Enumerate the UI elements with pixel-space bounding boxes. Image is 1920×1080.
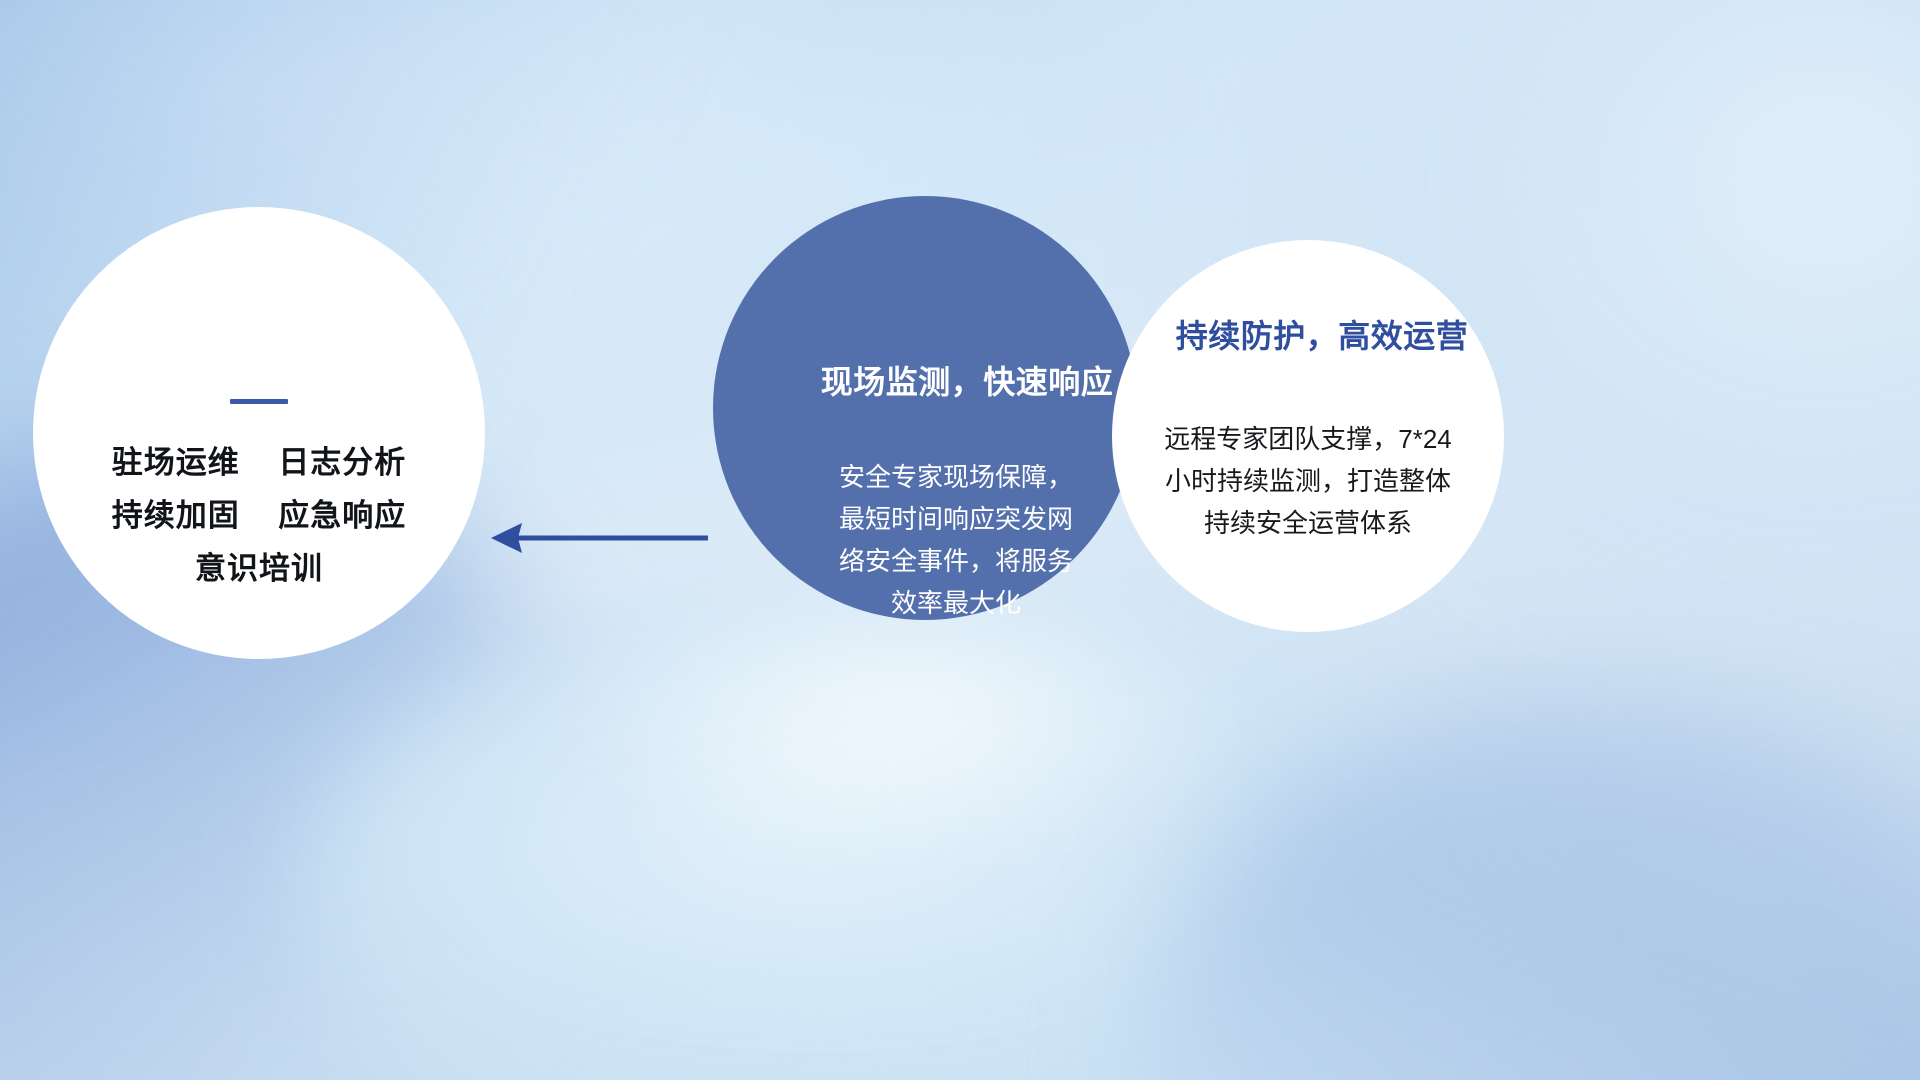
right-card-body-line: 小时持续监测，打造整体 <box>1122 460 1494 502</box>
left-arrow-icon <box>488 516 708 560</box>
middle-card-body-line: 效率最大化 <box>806 582 1106 624</box>
left-card: 驻场运维 日志分析 持续加固 应急响应 意识培训 <box>33 207 485 659</box>
right-card-body: 远程专家团队支撑，7*24 小时持续监测，打造整体 持续安全运营体系 <box>1122 418 1494 544</box>
left-card-line: 持续加固 应急响应 <box>112 500 406 531</box>
diagram-stage: 驻场运维 日志分析 持续加固 应急响应 意识培训 现场监测，快速响应 安全专家现… <box>0 0 1920 1080</box>
right-card: 持续防护，高效运营 远程专家团队支撑，7*24 小时持续监测，打造整体 持续安全… <box>1112 240 1504 632</box>
middle-card-body-line: 络安全事件，将服务 <box>806 540 1106 582</box>
left-card-line: 意识培训 <box>195 553 323 584</box>
middle-card-body-line: 最短时间响应突发网 <box>806 498 1106 540</box>
middle-card: 现场监测，快速响应 安全专家现场保障， 最短时间响应突发网 络安全事件，将服务 … <box>713 196 1137 620</box>
middle-card-body-line: 安全专家现场保障， <box>806 456 1106 498</box>
flow-arrow <box>488 516 708 565</box>
right-card-title: 持续防护，高效运营 <box>1176 320 1469 352</box>
middle-card-body: 安全专家现场保障， 最短时间响应突发网 络安全事件，将服务 效率最大化 <box>806 456 1106 624</box>
right-card-body-line: 远程专家团队支撑，7*24 <box>1122 418 1494 460</box>
right-card-body-line: 持续安全运营体系 <box>1122 502 1494 544</box>
middle-card-title: 现场监测，快速响应 <box>821 366 1114 398</box>
left-card-line: 驻场运维 日志分析 <box>112 447 406 478</box>
left-card-service-list: 驻场运维 日志分析 持续加固 应急响应 意识培训 <box>112 447 406 584</box>
horizontal-dash-icon <box>230 399 288 404</box>
